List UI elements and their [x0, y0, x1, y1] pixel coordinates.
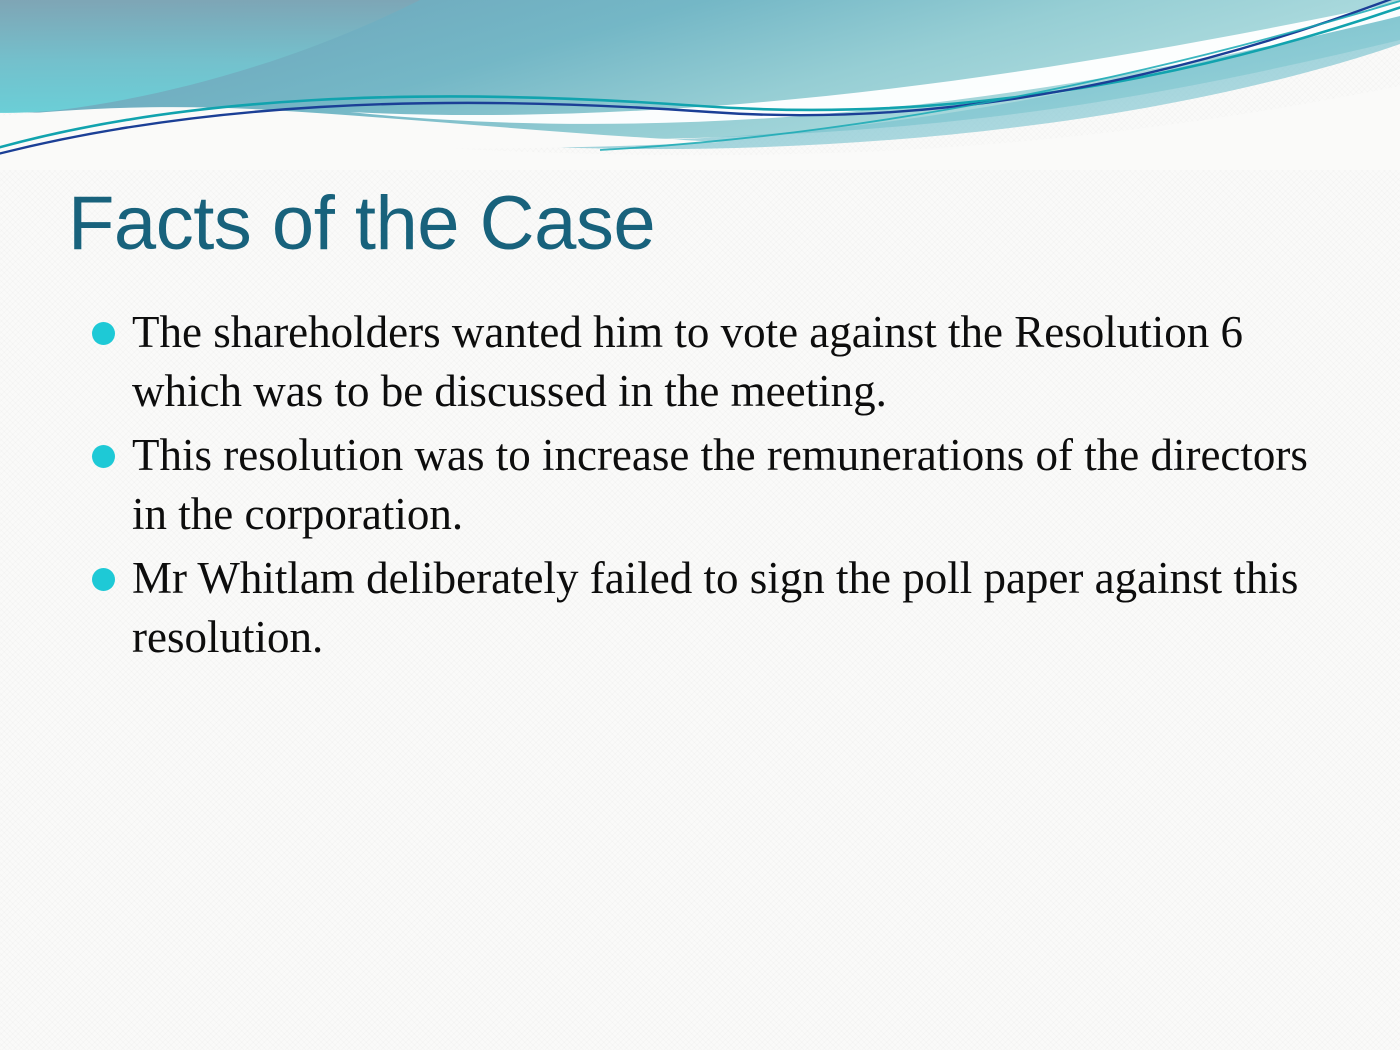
bullet-dot-icon: [92, 322, 115, 345]
list-item-text: Mr Whitlam deliberately failed to sign t…: [132, 549, 1336, 666]
body-content: The shareholders wanted him to vote agai…: [86, 303, 1336, 666]
slide-canvas: Facts of the Case The shareholders wante…: [0, 0, 1400, 1050]
list-item-text: The shareholders wanted him to vote agai…: [132, 303, 1336, 420]
list-item-text: This resolution was to increase the remu…: [132, 426, 1336, 543]
bullet-list: The shareholders wanted him to vote agai…: [86, 303, 1336, 666]
list-item: This resolution was to increase the remu…: [86, 426, 1336, 543]
wave-banner-graphic: [0, 0, 1400, 170]
page-title: Facts of the Case: [68, 186, 1348, 262]
title-block: Facts of the Case: [68, 186, 1348, 262]
bullet-dot-icon: [92, 568, 115, 591]
list-item: The shareholders wanted him to vote agai…: [86, 303, 1336, 420]
list-item: Mr Whitlam deliberately failed to sign t…: [86, 549, 1336, 666]
bullet-dot-icon: [92, 445, 115, 468]
